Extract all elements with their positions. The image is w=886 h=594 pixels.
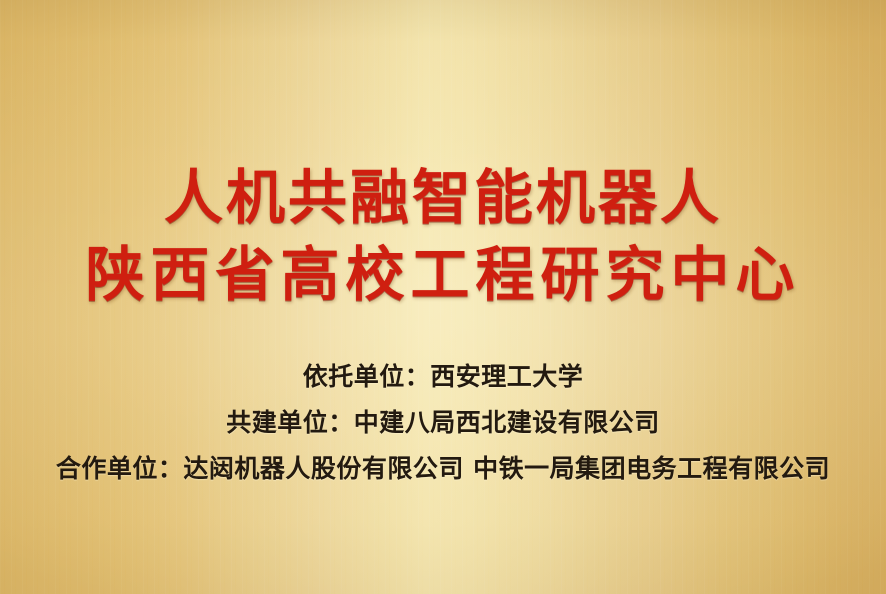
plaque-subtitle-block: 依托单位：西安理工大学 共建单位：中建八局西北建设有限公司 合作单位：达闼机器人… [0, 364, 886, 481]
title-line-1: 人机共融智能机器人 [164, 168, 722, 227]
plaque-title: 人机共融智能机器人 陕西省高校工程研究中心 [0, 168, 886, 304]
supporting-unit-line: 依托单位：西安理工大学 [303, 364, 584, 389]
title-line-2: 陕西省高校工程研究中心 [85, 245, 800, 304]
cooperating-unit-line: 合作单位：达闼机器人股份有限公司 中铁一局集团电务工程有限公司 [56, 456, 830, 481]
plaque-content: 人机共融智能机器人 陕西省高校工程研究中心 依托单位：西安理工大学 共建单位：中… [0, 0, 886, 594]
award-plaque: 人机共融智能机器人 陕西省高校工程研究中心 依托单位：西安理工大学 共建单位：中… [0, 0, 886, 594]
co-building-unit-line: 共建单位：中建八局西北建设有限公司 [226, 410, 660, 435]
